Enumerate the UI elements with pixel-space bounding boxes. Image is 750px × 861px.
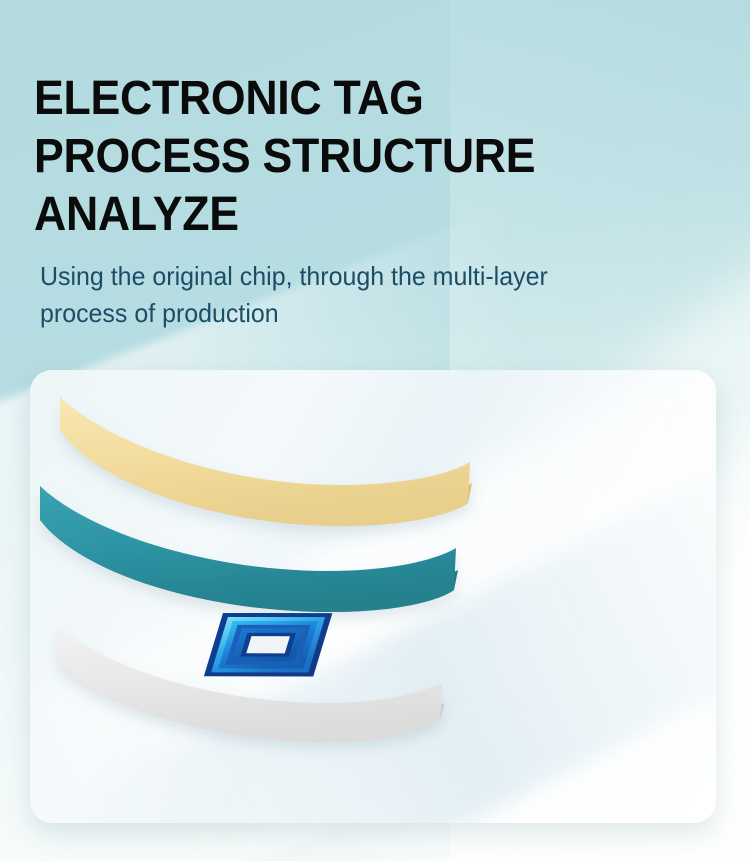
page-title: ELECTRONIC TAG PROCESS STRUCTURE ANALYZE [34, 70, 676, 244]
diagram-card: PET veneer Antenna base material chip Re… [30, 370, 716, 823]
callout-list: PET veneer Antenna base material chip Re… [30, 370, 716, 823]
header: ELECTRONIC TAG PROCESS STRUCTURE ANALYZE… [34, 70, 724, 332]
page-subtitle: Using the original chip, through the mul… [40, 258, 697, 332]
